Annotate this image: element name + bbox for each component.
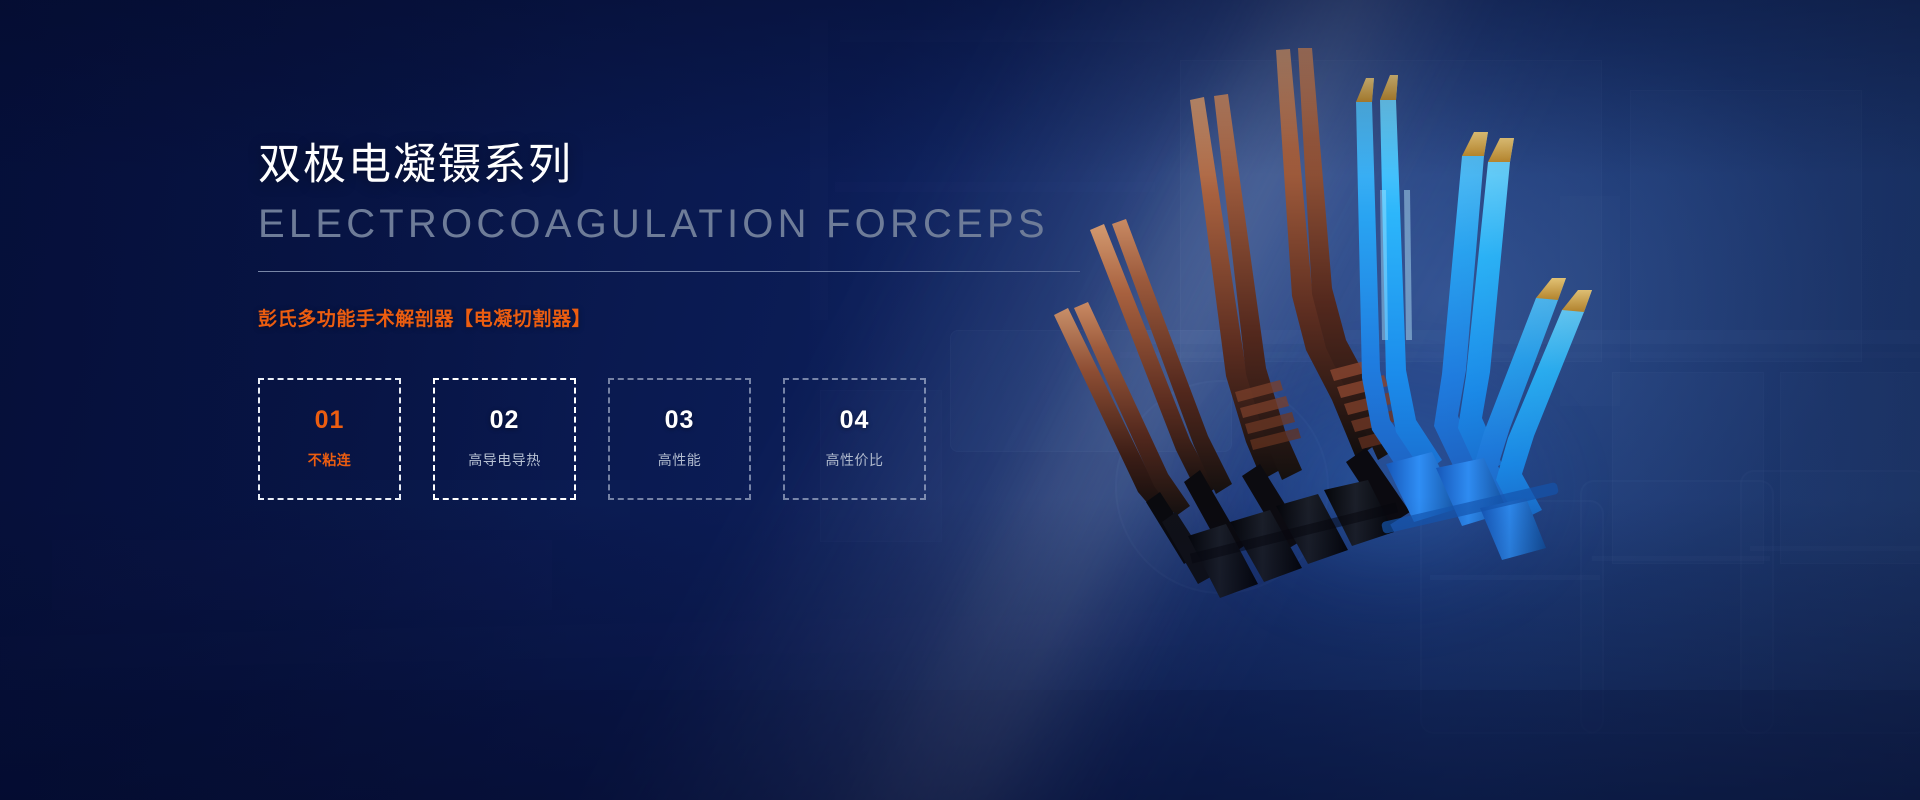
feature-number: 02 (490, 408, 520, 433)
feature-label: 高性能 (658, 450, 702, 470)
title-divider (258, 271, 1080, 272)
banner-tagline: 彭氏多功能手术解剖器【电凝切割器】 (258, 304, 1158, 331)
feature-label: 不粘连 (308, 450, 352, 470)
feature-label: 高性价比 (826, 450, 884, 470)
feature-item-02[interactable]: 02 高导电导热 (433, 378, 576, 500)
feature-list: 01 不粘连 02 高导电导热 03 高性能 04 高性价比 (258, 378, 1158, 500)
feature-item-04[interactable]: 04 高性价比 (783, 378, 926, 500)
feature-number: 04 (840, 408, 870, 433)
feature-label: 高导电导热 (468, 450, 541, 470)
banner-title-cn: 双极电凝镊系列 (258, 140, 1158, 191)
banner-title-en: ELECTROCOAGULATION FORCEPS (258, 203, 1158, 245)
forceps-product-image (1080, 40, 1640, 620)
feature-item-03[interactable]: 03 高性能 (608, 378, 751, 500)
banner-content: 双极电凝镊系列 ELECTROCOAGULATION FORCEPS 彭氏多功能… (258, 140, 1158, 500)
product-banner: 双极电凝镊系列 ELECTROCOAGULATION FORCEPS 彭氏多功能… (0, 0, 1920, 800)
feature-item-01[interactable]: 01 不粘连 (258, 378, 401, 500)
feature-number: 01 (315, 408, 345, 433)
feature-number: 03 (665, 408, 695, 433)
